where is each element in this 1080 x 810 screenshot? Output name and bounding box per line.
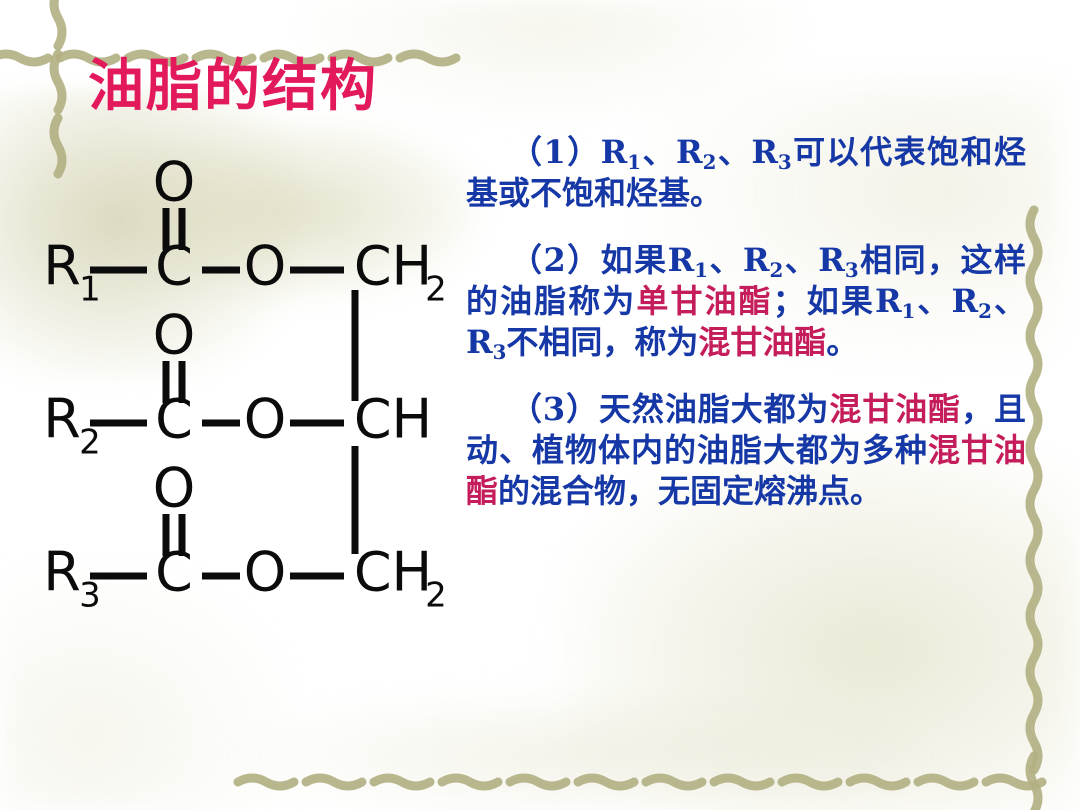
r-group-subscript: 3	[845, 258, 859, 282]
body-text: 、	[783, 241, 818, 279]
highlighted-term: 混甘油酯	[698, 323, 826, 361]
atom-sub-2: 2	[79, 423, 101, 463]
structure-svg: R 1 C O O CH 2 R 2 C O O CH R 3 C O O	[22, 158, 462, 628]
atom-label-R2: R	[43, 388, 81, 451]
body-text: R	[951, 282, 978, 320]
body-text: 。	[826, 323, 858, 361]
r-group-subscript: 2	[770, 258, 784, 282]
body-text: R	[668, 241, 695, 279]
highlighted-term: 单甘油酯	[636, 282, 772, 320]
background-wash	[230, 690, 930, 810]
atom-sub-3: 3	[79, 576, 101, 616]
r-group-subscript: 3	[778, 150, 792, 174]
body-text: 天然油脂大都为	[599, 390, 829, 428]
body-text: R	[466, 323, 493, 361]
atom-label-C3: C	[155, 541, 193, 604]
explanation-point-1: （1）R1、R2、R3可以代表饱和烃基或不饱和烃基。	[466, 132, 1026, 214]
atom-sub-2-top: 2	[425, 270, 447, 310]
atom-label-carbonyl-O1: O	[153, 158, 196, 214]
r-group-subscript: 2	[978, 299, 992, 323]
body-text: ；如果	[773, 282, 875, 320]
r-group-subscript: 2	[703, 150, 717, 174]
atom-label-R1: R	[43, 235, 81, 298]
slide-canvas: 油脂的结构	[0, 0, 1080, 810]
explanation-point-3: （3）天然油脂大都为混甘油酯，且动、植物体内的油脂大都为多种混甘油酯的混合物，无…	[466, 389, 1026, 512]
atom-sub-2-bottom: 2	[425, 576, 447, 616]
atom-label-CH2-bottom: CH	[354, 541, 432, 604]
body-text: R	[818, 241, 845, 279]
body-text: 、	[708, 241, 743, 279]
atom-label-ester-O1: O	[244, 235, 287, 298]
atom-label-R3: R	[43, 541, 81, 604]
r-group-subscript: 1	[627, 150, 641, 174]
atom-label-ester-O3: O	[244, 541, 287, 604]
atom-label-ester-O2: O	[244, 388, 287, 451]
atom-label-CH2-top: CH	[354, 235, 432, 298]
atom-label-CH-middle: CH	[354, 388, 432, 451]
body-text: 不相同，称为	[506, 323, 698, 361]
point-number: （2）	[510, 241, 601, 279]
body-text: 、	[641, 133, 676, 171]
body-text: 、	[915, 282, 951, 320]
atom-label-C2: C	[155, 388, 193, 451]
r-group-subscript: 3	[493, 340, 507, 364]
atom-label-C1: C	[155, 235, 193, 298]
atom-sub-1: 1	[79, 270, 101, 310]
explanation-point-2: （2）如果R1、R2、R3相同，这样的油脂称为单甘油酯；如果R1、R2、R3不相…	[466, 240, 1026, 363]
body-text: R	[875, 282, 902, 320]
body-text: 、	[992, 282, 1026, 320]
point-number: （3）	[510, 390, 599, 428]
body-text: R	[743, 241, 770, 279]
explanation-list: （1）R1、R2、R3可以代表饱和烃基或不饱和烃基。 （2）如果R1、R2、R3…	[466, 132, 1026, 528]
body-text: R	[751, 133, 778, 171]
body-text: 如果	[601, 241, 668, 279]
body-text: 的混合物，无固定熔沸点。	[498, 472, 882, 510]
body-text: 、	[716, 133, 751, 171]
body-text: R	[601, 133, 628, 171]
highlighted-term: 混甘油酯	[829, 390, 961, 428]
point-number: （1）	[510, 133, 601, 171]
atom-label-carbonyl-O2: O	[153, 304, 196, 367]
body-text: R	[676, 133, 703, 171]
triglyceride-structure-diagram: R 1 C O O CH 2 R 2 C O O CH R 3 C O O	[22, 158, 462, 628]
r-group-subscript: 1	[694, 258, 708, 282]
slide-title: 油脂的结构	[88, 58, 378, 114]
atom-label-carbonyl-O3: O	[153, 457, 196, 520]
r-group-subscript: 1	[902, 299, 916, 323]
